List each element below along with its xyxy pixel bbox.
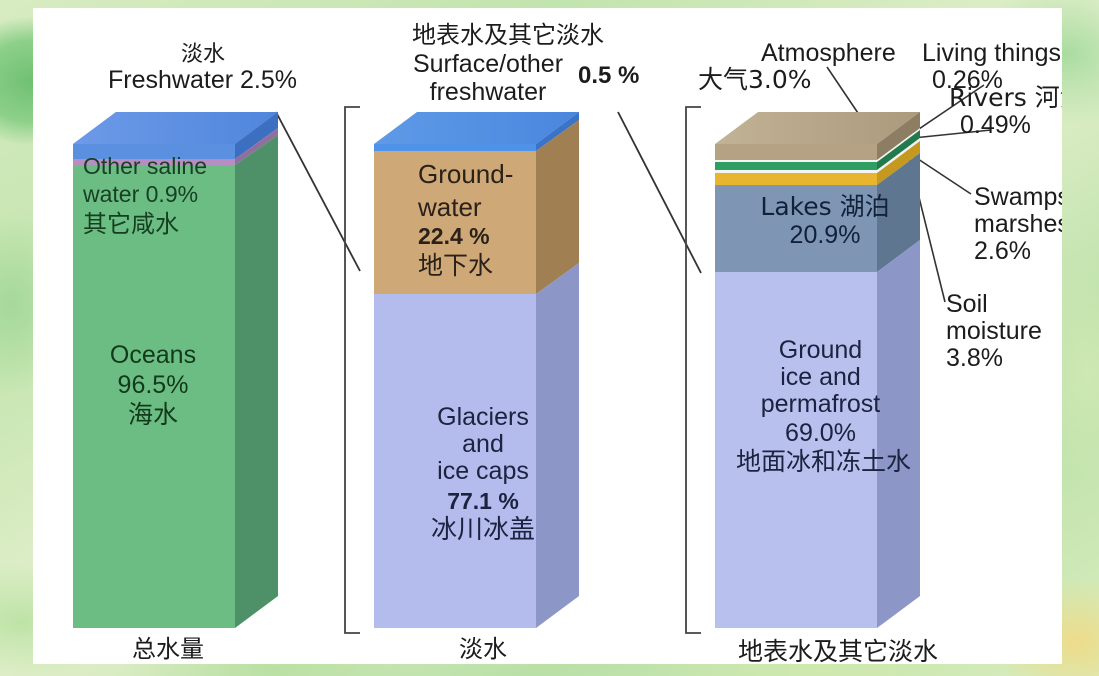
bar3-rivers-label: Rivers 河流 bbox=[949, 84, 1062, 112]
bar2-glaciers-label-line3: ice caps bbox=[403, 457, 563, 485]
bar1-saline-label-cn: 其它咸水 bbox=[83, 211, 179, 238]
bar3-swamps-value: 2.6% bbox=[974, 237, 1031, 265]
bar3-ground-ice-label-line2: ice and bbox=[733, 363, 908, 391]
bar2-glaciers-label-line1: Glaciers bbox=[403, 403, 563, 431]
bar3-swamps-label-line2: marshes bbox=[974, 210, 1062, 238]
bar1-oceans-label-en: Oceans bbox=[78, 341, 228, 369]
leader-line-1 bbox=[276, 112, 360, 271]
bar1-oceans-value: 96.5% bbox=[78, 371, 228, 399]
bar3-ground-ice-label-line3: permafrost bbox=[723, 390, 918, 418]
bar3-atmosphere-label-cn: 大气3.0% bbox=[698, 66, 812, 94]
bar1-side-oceans bbox=[235, 135, 278, 628]
bar1-axis-label: 总水量 bbox=[88, 636, 248, 663]
leader-line-2 bbox=[618, 112, 701, 273]
bar2-glaciers-label-cn: 冰川冰盖 bbox=[403, 516, 563, 545]
bar3-soil-moisture-label-line1: Soil bbox=[946, 290, 988, 318]
bar2-top-label-cn: 地表水及其它淡水 bbox=[368, 22, 648, 49]
bar2-groundwater-label-cn: 地下水 bbox=[418, 252, 493, 280]
bar3-lakes-value: 20.9% bbox=[740, 221, 910, 249]
bar2-top-value: 0.5 % bbox=[578, 63, 639, 90]
bar3-lakes-label: Lakes 湖泊 bbox=[740, 193, 910, 221]
bar1-top-label-en: Freshwater 2.5% bbox=[75, 66, 330, 94]
bar2-glaciers-value: 77.1 % bbox=[403, 489, 563, 515]
bar3-soil-moisture-label-line2: moisture bbox=[946, 317, 1042, 345]
bar2-groundwater-label-line2: water bbox=[418, 193, 482, 222]
bar3-ground-ice-label-line1: Ground bbox=[733, 336, 908, 364]
bar3-front-swamps-marshes bbox=[715, 173, 877, 185]
bracket-bar2 bbox=[345, 107, 360, 633]
bar3-front-living-things bbox=[715, 160, 877, 162]
bar3-ground-ice-value: 69.0% bbox=[733, 419, 908, 447]
bar2-front-surface bbox=[374, 144, 536, 151]
bar3-swamps-label-line1: Swamps, bbox=[974, 183, 1062, 211]
bar3-ground-ice-label-cn: 地面冰和冻土水 bbox=[716, 448, 931, 476]
bar3-living-things-label: Living things bbox=[922, 39, 1061, 67]
bar3-axis-label: 地表水及其它淡水 bbox=[708, 638, 968, 664]
bar2-top-label-en-line2: freshwater bbox=[363, 78, 613, 106]
bar1-saline-label-line2: water 0.9% bbox=[83, 182, 198, 208]
bar3-front-atmosphere bbox=[715, 144, 877, 160]
bar3-soil-moisture-value: 3.8% bbox=[946, 344, 1003, 372]
bar2-axis-label: 淡水 bbox=[413, 636, 553, 663]
bar2-glaciers-label-line2: and bbox=[403, 430, 563, 458]
bracket-bar3 bbox=[686, 107, 701, 633]
bar3-front-rivers bbox=[715, 162, 877, 170]
bar1-oceans-label-cn: 海水 bbox=[78, 401, 228, 429]
bar1-top-label-cn: 淡水 bbox=[103, 42, 303, 67]
bar3-rivers-value: 0.49% bbox=[960, 111, 1031, 139]
bar2-top-label-en-line1: Surface/other bbox=[363, 50, 613, 78]
bar1-saline-label-line1: Other saline bbox=[83, 154, 207, 180]
bar2-groundwater-value: 22.4 % bbox=[418, 224, 490, 250]
bar3-front-divider bbox=[715, 170, 877, 173]
figure-canvas: 淡水 Freshwater 2.5% Other saline water 0.… bbox=[33, 8, 1062, 664]
bar2-groundwater-label-line1: Ground- bbox=[418, 160, 513, 189]
bar3-atmosphere-label-en: Atmosphere bbox=[761, 39, 896, 67]
